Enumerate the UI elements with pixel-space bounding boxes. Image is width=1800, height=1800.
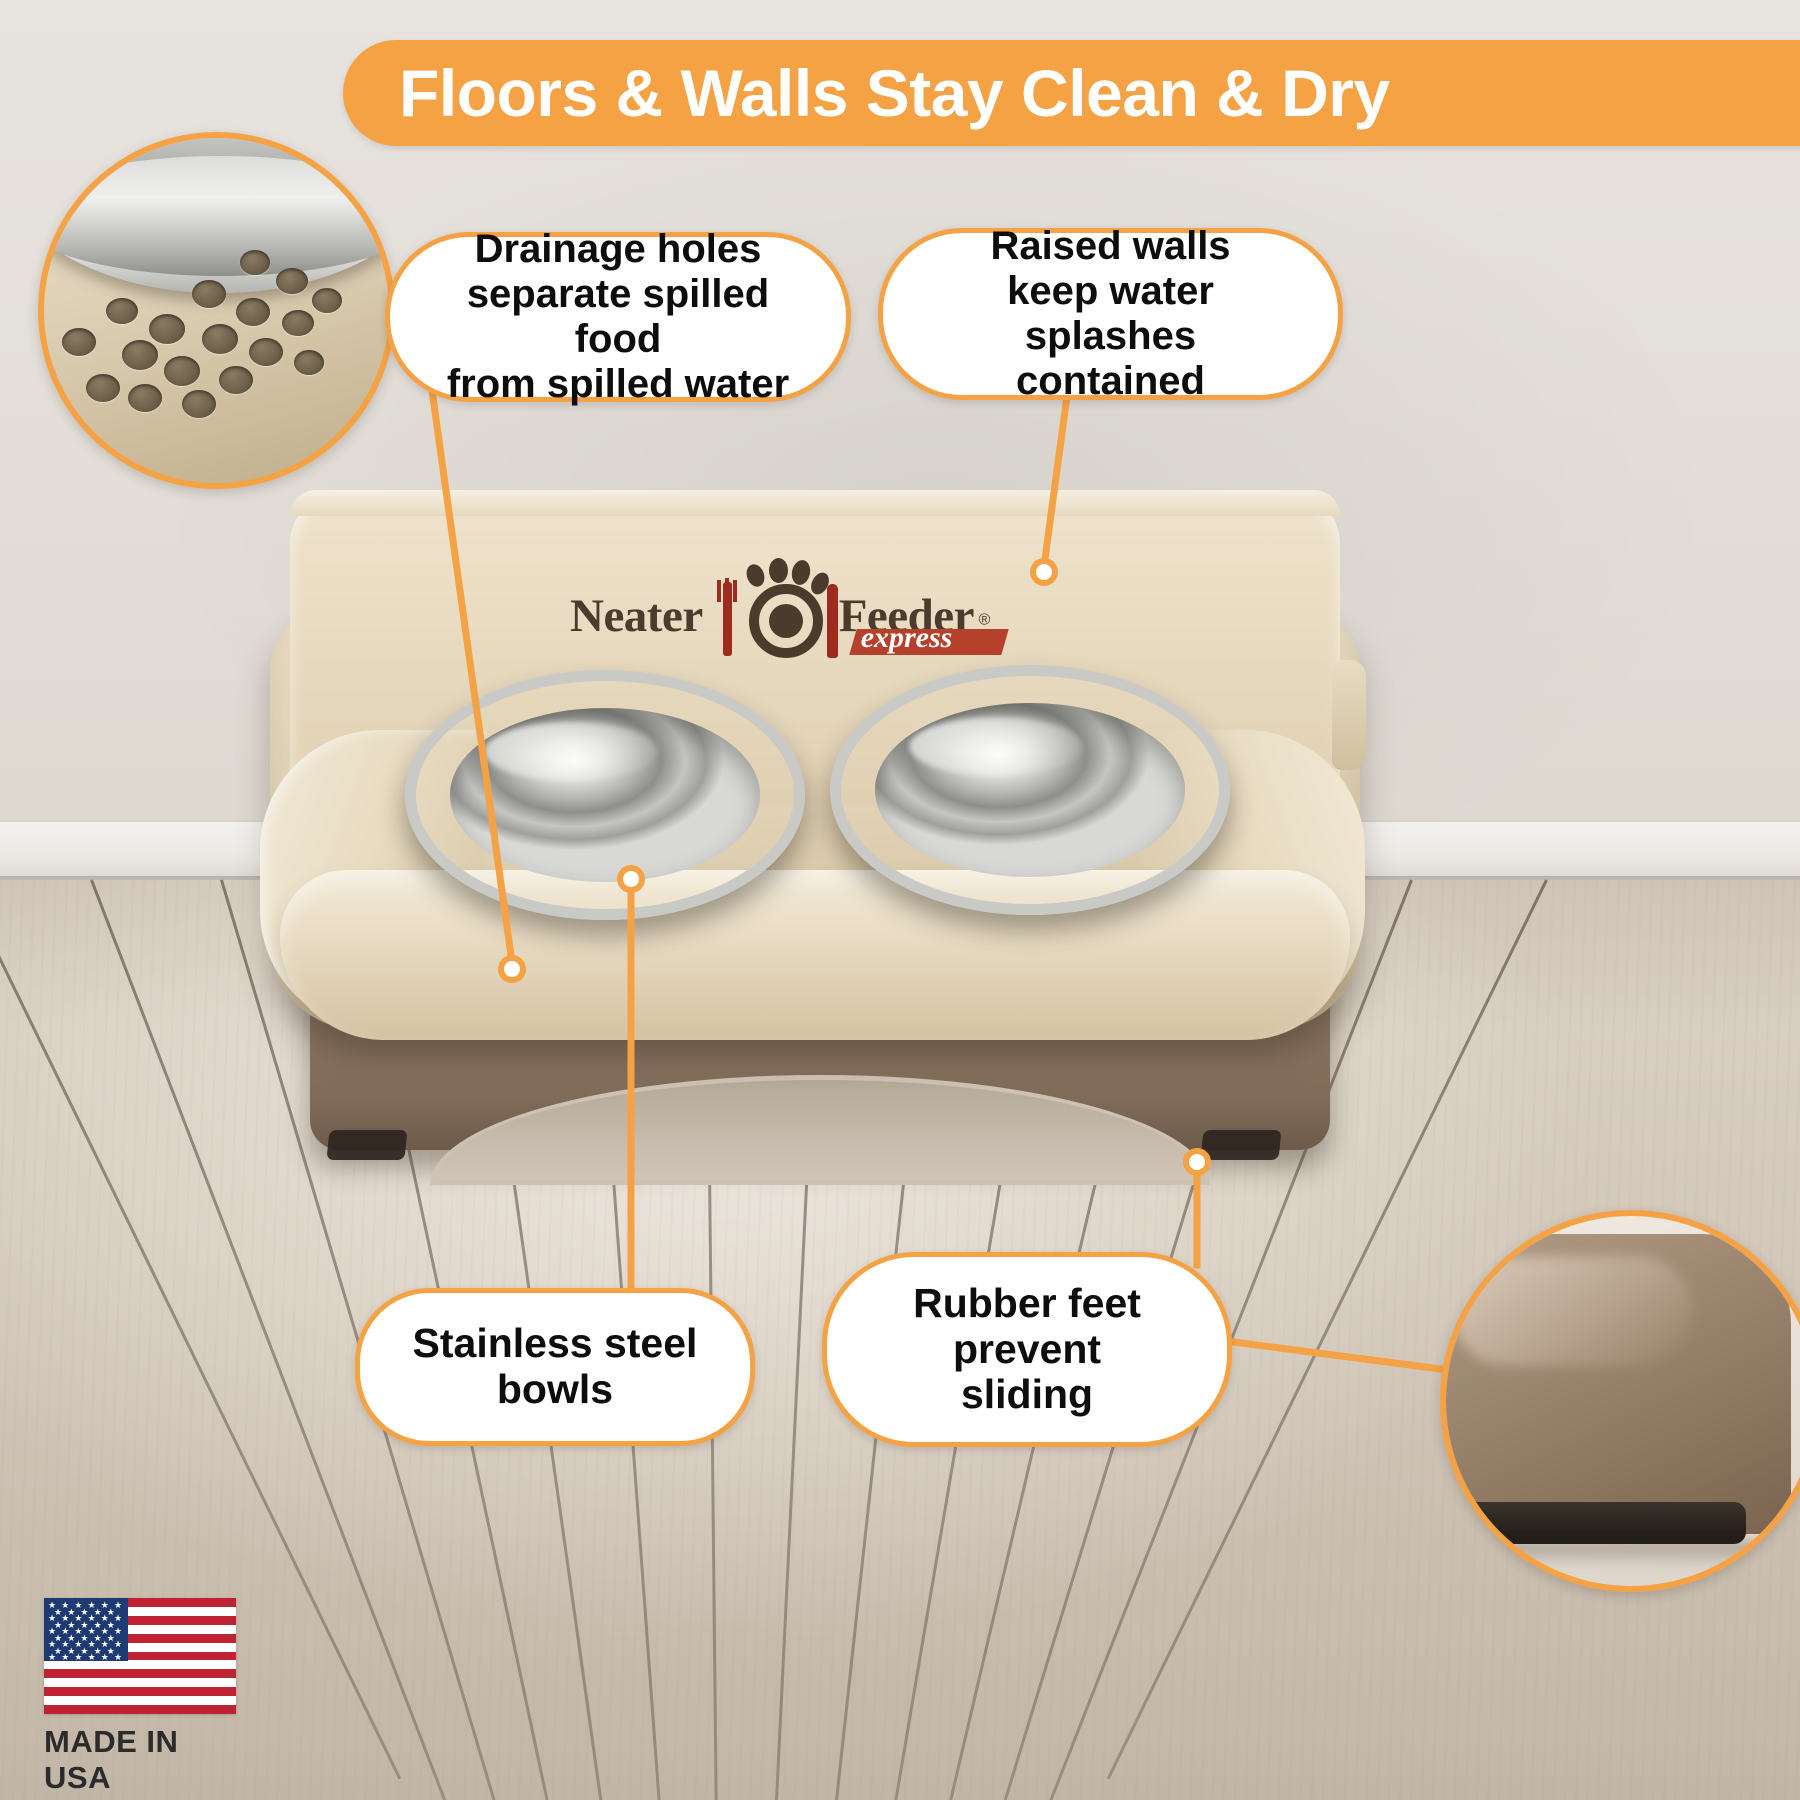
made-in-usa-badge: ★★★★★★★★★★★★★★★★★★★★★★★★★★★★★★★★★★★★★★★★… (44, 1598, 244, 1758)
drainage-hole (276, 268, 308, 294)
drainage-hole (219, 366, 253, 394)
drainage-hole (282, 310, 314, 336)
bowl-sheen-left (484, 722, 658, 781)
leader-line (628, 879, 635, 1296)
callout-stainless-bowls[interactable]: Stainless steelbowls (355, 1288, 755, 1446)
callout-bowls-text: Stainless steelbowls (377, 1321, 734, 1413)
made-in-usa-label: MADE IN USA (44, 1724, 244, 1796)
registered-trademark-mark: ® (978, 612, 990, 629)
base-leg-highlight (1452, 1256, 1692, 1366)
drainage-holes-inset-image (38, 132, 395, 489)
infographic-canvas: Neater Feeder ® (0, 0, 1800, 1800)
drainage-hole (86, 374, 120, 402)
flag-star: ★ (114, 1614, 122, 1623)
flag-star: ★ (114, 1627, 122, 1636)
fork-tine-3 (733, 580, 737, 602)
plate-center-icon (769, 604, 803, 638)
callout-raised-walls[interactable]: Raised wallskeep water splashescontained (878, 228, 1343, 400)
brand-name-primary: Neater (570, 589, 703, 643)
flag-star: ★ (48, 1653, 56, 1662)
paw-toe-2 (769, 558, 788, 583)
bowl-sheen-right (909, 717, 1083, 776)
drainage-hole (122, 340, 158, 370)
stainless-bowl-left (405, 670, 805, 920)
flag-star: ★ (61, 1653, 69, 1662)
drainage-hole (128, 384, 162, 412)
flag-star: ★ (114, 1640, 122, 1649)
side-tab-right (1332, 660, 1366, 770)
drainage-hole (192, 280, 226, 308)
neater-feeder-product: Neater Feeder ® (250, 480, 1370, 1200)
drainage-hole (182, 390, 216, 418)
rubber-foot-left (326, 1130, 407, 1160)
stainless-bowl-right (830, 665, 1230, 915)
brand-logo: Neater Feeder ® (570, 568, 1040, 664)
front-rim (280, 870, 1350, 1040)
flag-star: ★ (88, 1653, 96, 1662)
us-flag-icon: ★★★★★★★★★★★★★★★★★★★★★★★★★★★★★★★★★★★★★★★★… (44, 1598, 236, 1714)
anchor-dot-raised-walls (1030, 558, 1058, 586)
flag-stripe (44, 1687, 236, 1696)
banner-title: Floors & Walls Stay Clean & Dry (343, 55, 1390, 131)
flag-star: ★ (114, 1653, 122, 1662)
flag-star: ★ (101, 1653, 109, 1662)
drainage-hole (164, 356, 200, 386)
flag-star: ★ (114, 1601, 122, 1610)
rubber-foot-shadow (1440, 1542, 1800, 1568)
steel-bowl-lip-closeup (38, 156, 395, 276)
fork-plate-knife-paw-logo-icon (707, 570, 835, 662)
anchor-dot-feet (1183, 1148, 1211, 1176)
callout-drainage-text: Drainage holesseparate spilled foodfrom … (390, 227, 846, 406)
flag-stripe (44, 1669, 236, 1678)
flag-star: ★ (74, 1653, 82, 1662)
drainage-hole (312, 288, 342, 313)
flag-stripe (44, 1705, 236, 1714)
drainage-hole (202, 324, 238, 354)
drainage-hole (249, 338, 283, 366)
drainage-hole (62, 328, 96, 356)
leader-line (1194, 1163, 1201, 1269)
rubber-foot-right (1200, 1130, 1281, 1160)
rubber-pad-closeup (1440, 1502, 1746, 1544)
drainage-hole (149, 314, 185, 344)
callout-drainage-holes[interactable]: Drainage holesseparate spilled foodfrom … (385, 232, 851, 402)
drainage-hole (106, 298, 138, 324)
drainage-hole (236, 298, 270, 326)
fork-tine-2 (725, 578, 729, 600)
anchor-dot-drainage (498, 955, 526, 983)
fork-tine-1 (717, 580, 721, 602)
anchor-dot-bowls (617, 865, 645, 893)
rubber-foot-inset-image (1440, 1210, 1800, 1592)
callout-walls-text: Raised wallskeep water splashescontained (883, 224, 1338, 403)
brand-tagline: express (861, 621, 953, 655)
callout-feet-text: Rubber feetpreventsliding (877, 1281, 1177, 1419)
header-banner: Floors & Walls Stay Clean & Dry (343, 40, 1800, 146)
drainage-hole (294, 350, 324, 375)
drainage-hole (240, 250, 270, 275)
callout-rubber-feet[interactable]: Rubber feetpreventsliding (822, 1252, 1232, 1447)
knife-icon (827, 584, 838, 658)
